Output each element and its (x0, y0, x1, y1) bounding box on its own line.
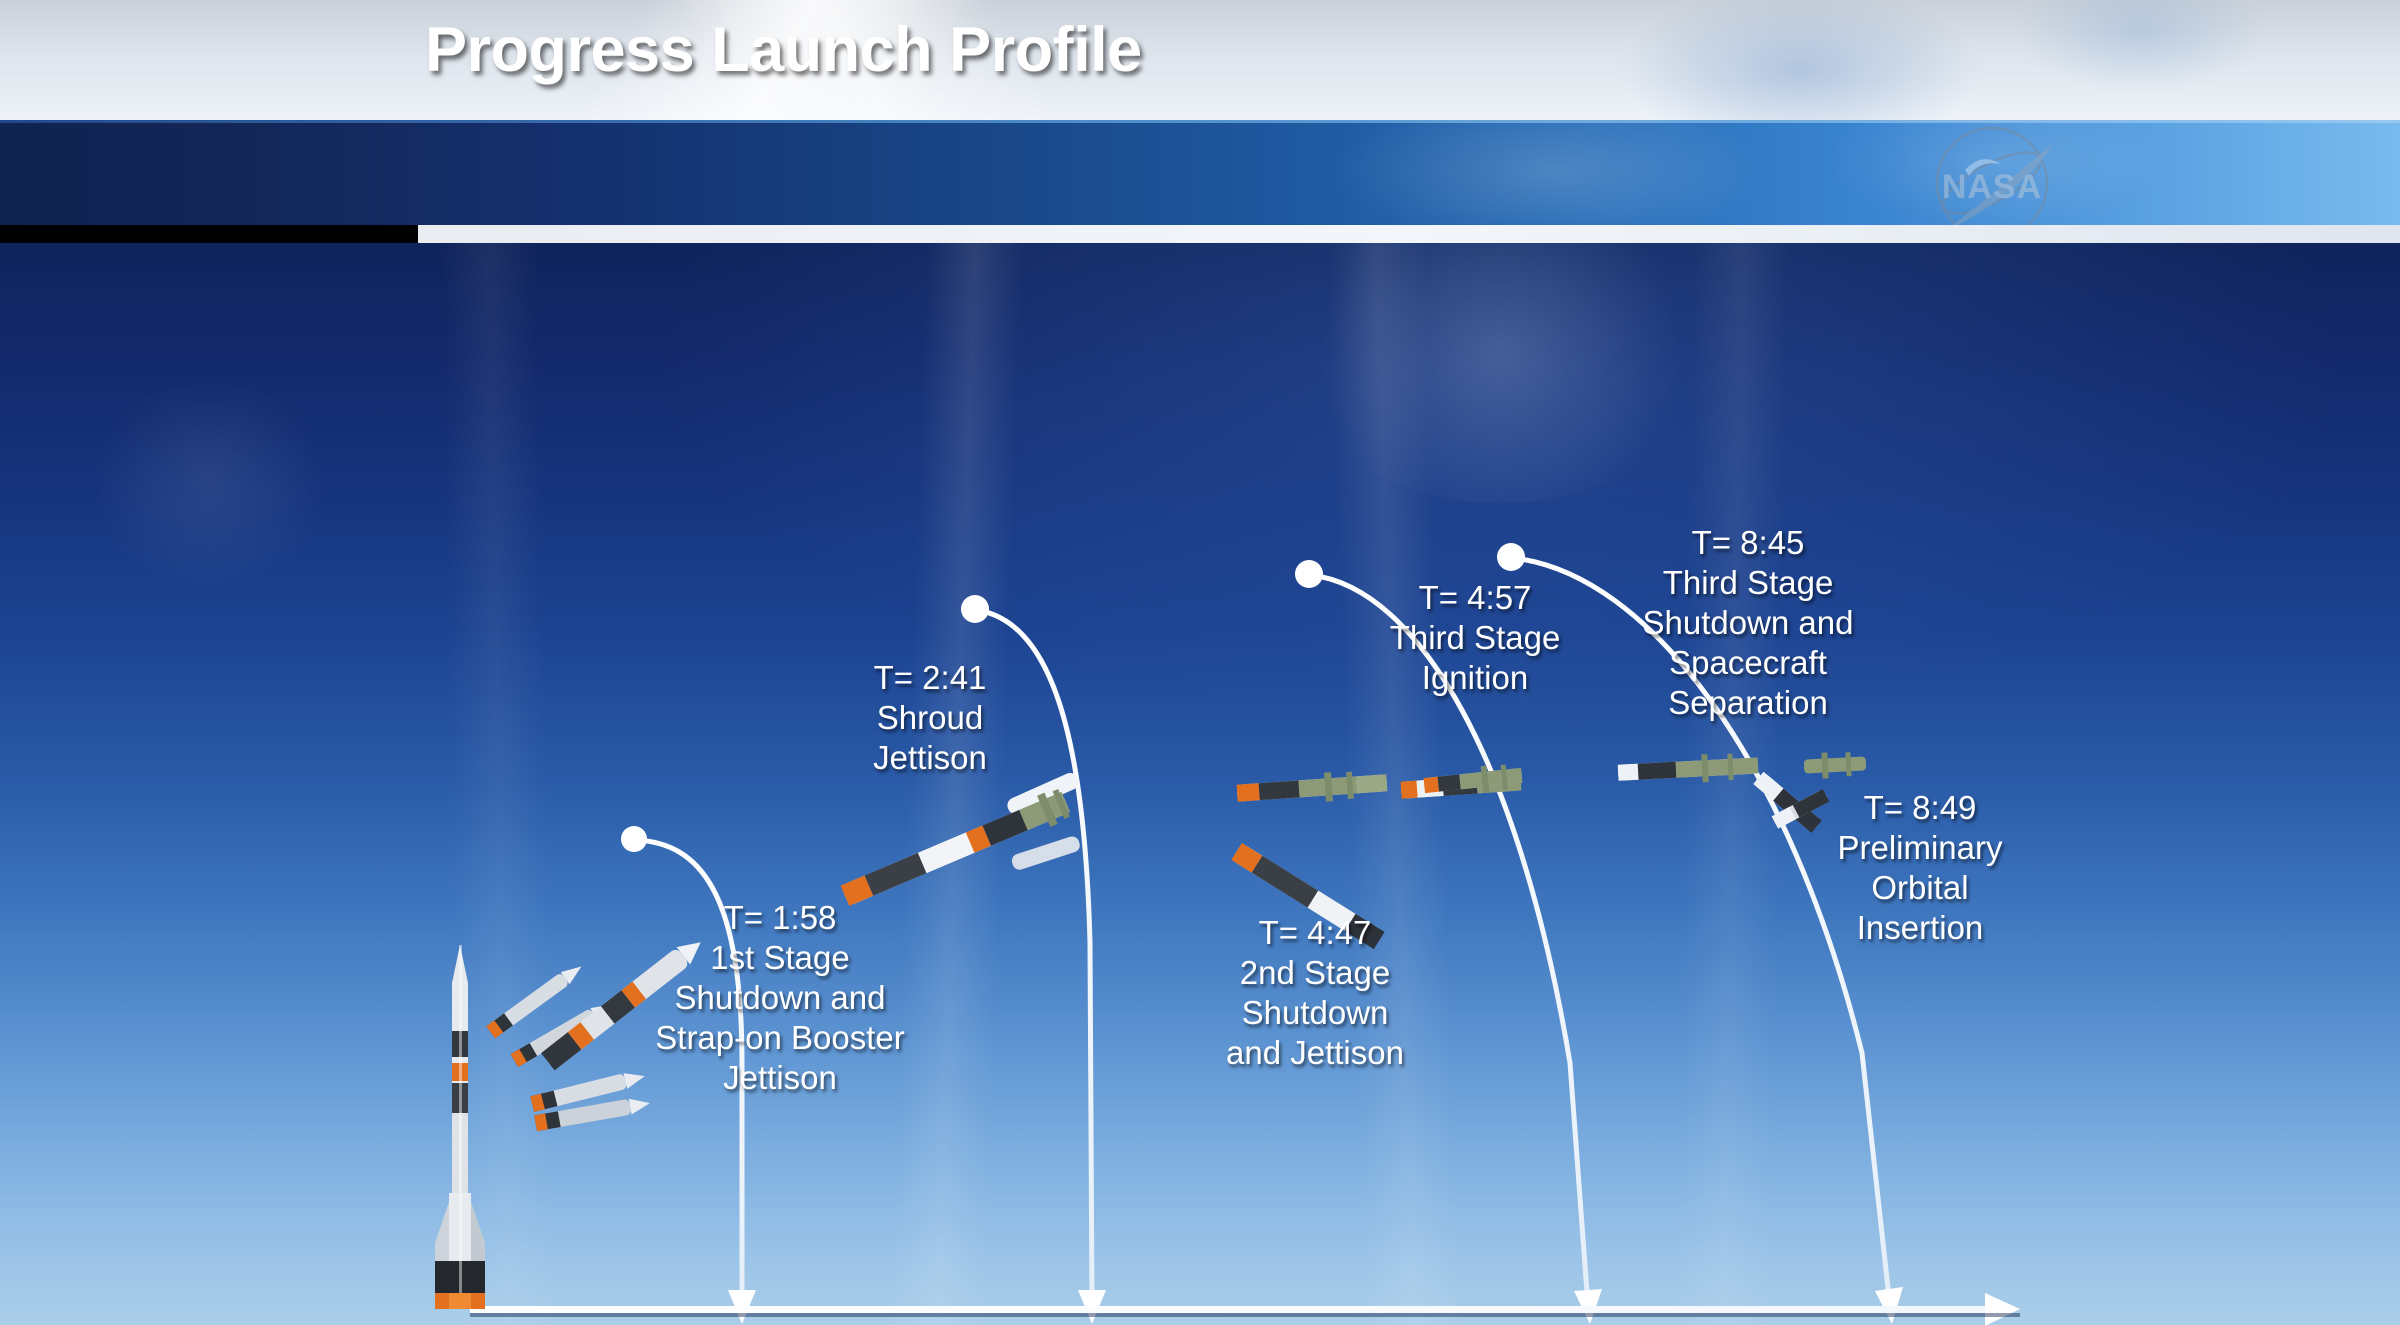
event-line: Shutdown (1165, 993, 1465, 1033)
event-line: and Jettison (1165, 1033, 1465, 1073)
event-time: T= 4:57 (1325, 578, 1625, 618)
banner-underline-light (418, 225, 2400, 243)
event-line: Shroud (780, 698, 1080, 738)
event-label-shroud-jettison: T= 2:41 Shroud Jettison (780, 658, 1080, 778)
trajectory-layer (0, 243, 2400, 1325)
launch-profile-diagram: T= 1:58 1st Stage Shutdown and Strap-on … (0, 243, 2400, 1325)
screenshot-root: Progress Launch Profile NASA (0, 0, 2400, 1325)
event-line: Shutdown and (1588, 603, 1908, 643)
event-label-second-stage-shutdown-jettison: T= 4:47 2nd Stage Shutdown and Jettison (1165, 913, 1465, 1073)
event-line: Spacecraft (1588, 643, 1908, 683)
event-line: 1st Stage (630, 938, 930, 978)
banner-underline-dark (0, 225, 418, 243)
event-label-third-stage-ignition: T= 4:57 Third Stage Ignition (1325, 578, 1625, 698)
event-line: Jettison (630, 1058, 930, 1098)
event-time: T= 1:58 (630, 898, 930, 938)
third-stage-burn-icon (1418, 755, 1528, 805)
event-line: Insertion (1760, 908, 2080, 948)
globe-watermark (1500, 0, 2400, 120)
page-title: Progress Launch Profile (425, 14, 1142, 86)
svg-text:NASA: NASA (1942, 168, 2042, 206)
top-decorative-strip (0, 0, 2400, 120)
event-line: Third Stage (1588, 563, 1908, 603)
event-line: Third Stage (1325, 618, 1625, 658)
event-line: Orbital (1760, 868, 2080, 908)
event-line: Ignition (1325, 658, 1625, 698)
event-line: Separation (1588, 683, 1908, 723)
event-time: T= 8:45 (1588, 523, 1908, 563)
event-time: T= 8:49 (1760, 788, 2080, 828)
event-line: Preliminary (1760, 828, 2080, 868)
downrange-axis (470, 1293, 2020, 1325)
event-label-strap-on-booster-jettison: T= 1:58 1st Stage Shutdown and Strap-on … (630, 898, 930, 1098)
event-label-preliminary-orbital-insertion: T= 8:49 Preliminary Orbital Insertion (1760, 788, 2080, 948)
event-line: Strap-on Booster (630, 1018, 930, 1058)
event-line: 2nd Stage (1165, 953, 1465, 993)
event-label-third-stage-shutdown-separation: T= 8:45 Third Stage Shutdown and Spacecr… (1588, 523, 1908, 723)
event-line: Jettison (780, 738, 1080, 778)
banner-globe-watermark (1300, 120, 2400, 225)
event-time: T= 4:47 (1165, 913, 1465, 953)
event-time: T= 2:41 (780, 658, 1080, 698)
event-line: Shutdown and (630, 978, 930, 1018)
